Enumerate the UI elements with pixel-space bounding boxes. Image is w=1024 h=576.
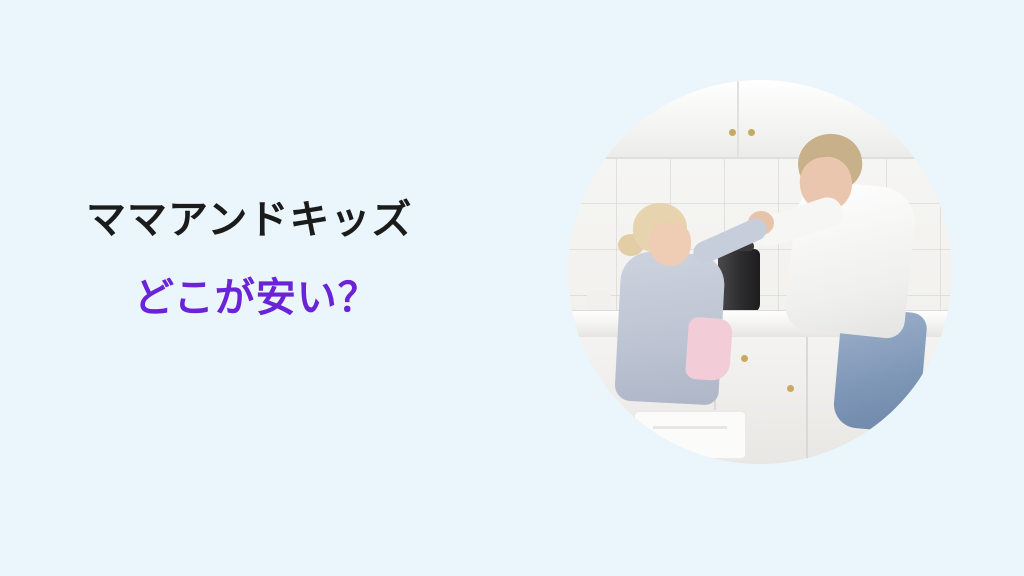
- text-block: ママアンドキッズ どこが安い？: [78, 195, 548, 323]
- cabinet-knob-icon: [787, 385, 794, 392]
- cabinet-knob-icon: [748, 129, 755, 136]
- cabinet-seam: [806, 337, 808, 464]
- slide-canvas: ママアンドキッズ どこが安い？: [0, 0, 1024, 576]
- upper-cabinet: [568, 80, 952, 159]
- cabinet-knob-icon: [729, 129, 736, 136]
- headline-text: ママアンドキッズ: [78, 195, 548, 245]
- photo-scene: [568, 80, 952, 464]
- chair-object: [633, 410, 747, 460]
- child-apron: [685, 317, 733, 382]
- subheadline-text: どこが安い？: [78, 273, 548, 323]
- mother-and-child-kitchen-photo: [568, 80, 952, 464]
- child-face: [649, 222, 691, 266]
- cabinet-knob-icon: [741, 355, 748, 362]
- adult-torso: [783, 178, 918, 340]
